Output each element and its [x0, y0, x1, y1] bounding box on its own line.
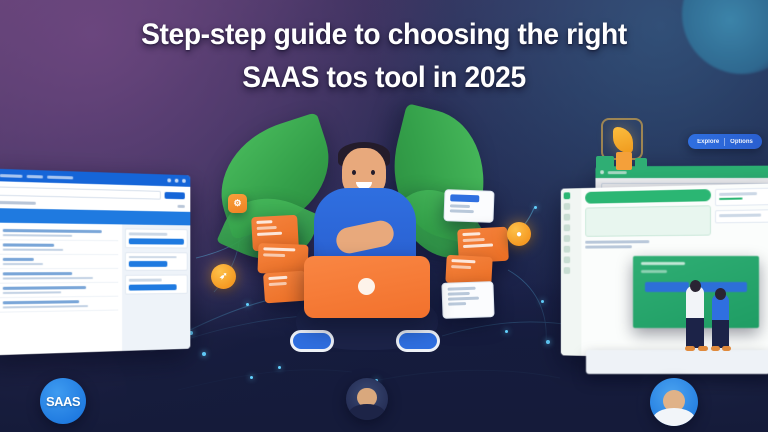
screen-button-1[interactable]: [645, 282, 689, 292]
floating-card-left-3[interactable]: [263, 271, 307, 304]
green-header-bar: [585, 189, 711, 204]
nav-item[interactable]: [0, 174, 23, 178]
page-title: Step-step guide to choosing the right SA…: [0, 14, 768, 99]
shoe: [685, 346, 695, 351]
cta-pill-primary-label: Explore: [697, 139, 719, 145]
user-avatar-center[interactable]: [346, 378, 388, 420]
network-node: [246, 303, 249, 306]
floating-card-right-4[interactable]: [441, 281, 494, 319]
saas-brand-label: SAAS: [46, 394, 80, 409]
standing-person-blue-shirt: [712, 294, 729, 348]
right-sidebar: [561, 188, 582, 356]
cta-pill-secondary-label: Options: [730, 139, 753, 145]
metric-card[interactable]: [715, 187, 768, 206]
cta-pill[interactable]: Explore Options: [688, 134, 762, 149]
search-input[interactable]: [0, 186, 161, 199]
bell-icon[interactable]: [167, 178, 171, 182]
side-card[interactable]: [125, 275, 188, 295]
shoe-right: [396, 330, 440, 352]
network-node: [541, 300, 544, 303]
headline-line-2: SAAS tos tool in 2025: [57, 57, 711, 100]
shoe: [698, 346, 708, 351]
list-item[interactable]: [0, 255, 118, 270]
network-node: [278, 366, 281, 369]
sidebar-logo-icon: [564, 192, 571, 199]
standing-person-head-1: [690, 280, 701, 292]
coin-badge[interactable]: ●: [507, 222, 531, 246]
network-node: [546, 340, 550, 344]
network-node: [250, 376, 253, 379]
side-widgets: [122, 224, 190, 355]
metric-card[interactable]: [715, 209, 768, 223]
saas-brand-badge[interactable]: SAAS: [40, 378, 86, 424]
list-item[interactable]: [0, 297, 118, 313]
network-node: [534, 206, 537, 209]
hero-banner: ⚙ ➶ ● Explore Options SAAS: [0, 0, 768, 432]
sidebar-item-calendar[interactable]: [564, 246, 571, 253]
record-list: [0, 222, 122, 355]
laptop[interactable]: [304, 256, 430, 318]
side-card[interactable]: [125, 228, 188, 248]
share-badge[interactable]: ➶: [211, 264, 236, 289]
sidebar-item-home[interactable]: [564, 203, 571, 210]
sidebar-item-contacts[interactable]: [564, 224, 571, 231]
shoe: [722, 346, 731, 351]
settings-badge[interactable]: ⚙: [228, 194, 247, 213]
shoe-left: [290, 330, 334, 352]
left-dashboard-panel[interactable]: [0, 168, 190, 355]
shoe: [711, 346, 720, 351]
help-icon[interactable]: [175, 179, 179, 183]
primary-action-button[interactable]: [165, 192, 185, 199]
standing-person-head-2: [715, 288, 726, 300]
list-item[interactable]: [0, 269, 118, 284]
nav-item[interactable]: [27, 174, 43, 178]
laptop-logo-icon: [358, 278, 375, 295]
list-item[interactable]: [0, 226, 118, 242]
mini-cube: [596, 156, 614, 170]
headline-line-1: Step-step guide to choosing the right: [57, 14, 711, 57]
sidebar-item-settings[interactable]: [564, 267, 571, 274]
green-stats-box: [585, 205, 711, 237]
avatar-icon[interactable]: [182, 179, 186, 183]
filter-label: [0, 201, 36, 205]
side-card[interactable]: [125, 252, 188, 271]
mini-cube: [616, 152, 632, 170]
standing-person-white-coat: [686, 286, 704, 348]
floating-card-right-1[interactable]: [443, 189, 494, 223]
right-desk-base: [586, 350, 768, 374]
nav-item[interactable]: [47, 175, 73, 179]
avatar-face: [650, 378, 698, 426]
network-node: [202, 352, 206, 356]
sidebar-item-deals[interactable]: [564, 235, 571, 242]
left-dashboard-body: [0, 222, 190, 355]
network-node: [505, 330, 508, 333]
user-avatar-right[interactable]: [650, 378, 698, 426]
list-item[interactable]: [0, 240, 118, 255]
sidebar-item-reports[interactable]: [564, 214, 571, 221]
avatar-face: [346, 378, 388, 420]
sidebar-item-tasks[interactable]: [564, 256, 571, 263]
sort-icon[interactable]: [178, 205, 185, 208]
mini-cube: [635, 158, 647, 170]
